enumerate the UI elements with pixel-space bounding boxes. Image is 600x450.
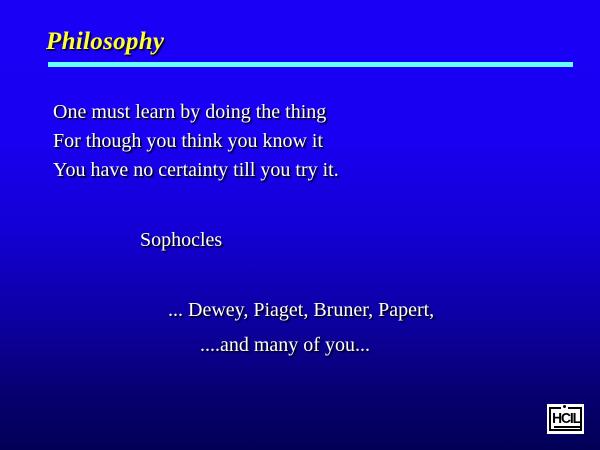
slide-title-block: Philosophy [0,28,600,72]
presentation-slide: Philosophy One must learn by doing the t… [0,0,600,450]
page-title: Philosophy [46,28,164,56]
quote-line: One must learn by doing the thing [53,102,326,122]
quote-line: For though you think you know it [53,131,323,151]
hcil-logo-baseline [554,426,582,428]
hcil-logo-dot-icon [563,405,566,408]
quote-attribution: Sophocles [140,230,222,250]
quote-line: You have no certainty till you try it. [53,160,339,180]
successors-line: ... Dewey, Piaget, Bruner, Papert, [168,300,434,320]
successors-line: ....and many of you... [200,335,370,355]
title-divider-rule [48,62,573,67]
hcil-logo-frame: HCIL [549,407,582,431]
hcil-logo: HCIL [547,404,584,434]
hcil-logo-label: HCIL [552,410,579,427]
